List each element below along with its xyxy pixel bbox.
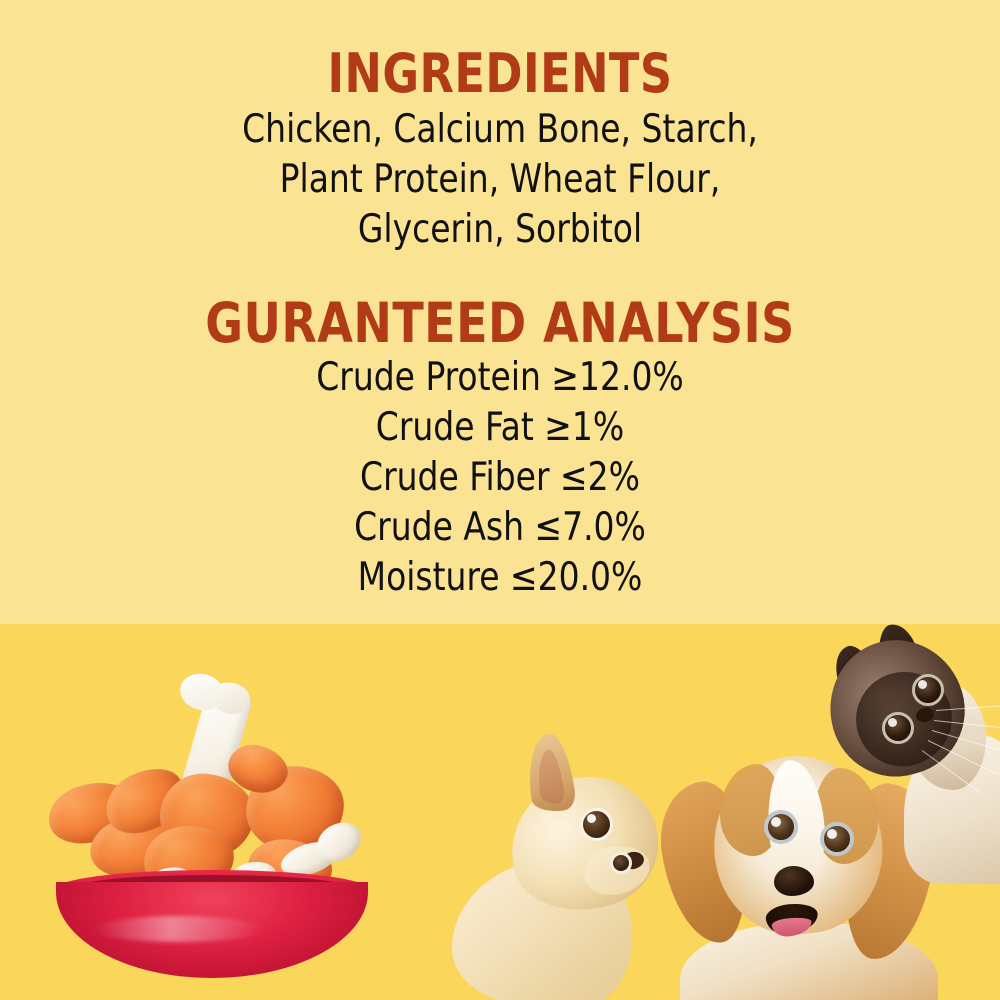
cat-eye (882, 712, 914, 744)
chihuahua-eye (610, 852, 632, 874)
spaniel-eye (764, 810, 798, 844)
guaranteed-analysis-list: Crude Protein ≥12.0% Crude Fat ≥1% Crude… (0, 353, 1000, 603)
spaniel-nose (774, 866, 814, 896)
cat-eye (912, 674, 944, 706)
guaranteed-analysis-section: GURANTEED ANALYSIS Crude Protein ≥12.0% … (0, 295, 1000, 603)
analysis-line-crude-fiber: Crude Fiber ≤2% (30, 453, 970, 503)
ingredients-line: Chicken, Calcium Bone, Starch, (30, 105, 970, 155)
himalayan-cat-image (812, 624, 1000, 866)
bowl-of-treats-image (42, 674, 382, 984)
analysis-line-moisture: Moisture ≤20.0% (30, 553, 970, 603)
analysis-line-crude-ash: Crude Ash ≤7.0% (30, 503, 970, 553)
ingredients-heading: INGREDIENTS (40, 46, 960, 101)
cat-eye-highlight (888, 718, 897, 727)
ingredients-line: Glycerin, Sorbitol (30, 205, 970, 255)
ingredients-line: Plant Protein, Wheat Flour, (30, 155, 970, 205)
nutrition-info-panel: INGREDIENTS Chicken, Calcium Bone, Starc… (0, 0, 1000, 624)
product-photo-panel (0, 624, 1000, 1000)
analysis-line-crude-fat: Crude Fat ≥1% (30, 403, 970, 453)
ingredients-list: Chicken, Calcium Bone, Starch, Plant Pro… (0, 105, 1000, 255)
ingredients-section: INGREDIENTS Chicken, Calcium Bone, Starc… (0, 46, 1000, 255)
calcium-bone-knob (214, 684, 250, 714)
product-label-panel: INGREDIENTS Chicken, Calcium Bone, Starc… (0, 0, 1000, 1000)
chihuahua-dog-image (452, 734, 672, 1000)
bowl-highlight (94, 916, 264, 942)
analysis-line-crude-protein: Crude Protein ≥12.0% (30, 353, 970, 403)
spaniel-eye-highlight (771, 817, 781, 827)
guaranteed-analysis-heading: GURANTEED ANALYSIS (35, 295, 965, 351)
cat-eye-highlight (918, 680, 927, 689)
chihuahua-eye (580, 808, 613, 841)
chihuahua-eye-highlight (587, 814, 596, 823)
